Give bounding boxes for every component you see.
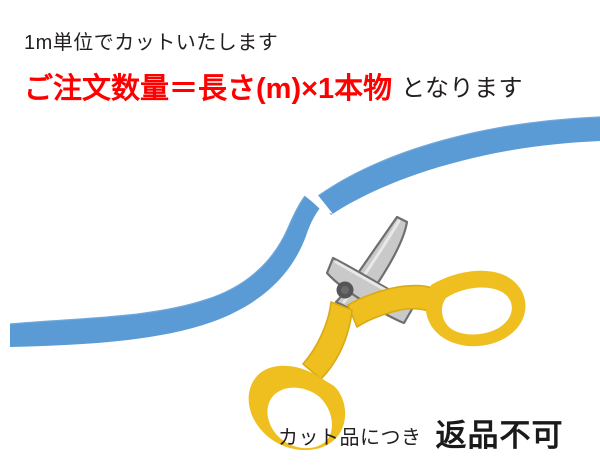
- return-policy-prefix: カット品につき: [278, 427, 422, 449]
- hose-right-fill: [318, 117, 600, 215]
- scissors-lower-shank: [303, 302, 352, 379]
- hose-left-highlight: [10, 196, 305, 324]
- scissors-right-handle-loop: [426, 271, 526, 346]
- lower-shank: [303, 302, 352, 379]
- illustration-layer: [0, 0, 600, 466]
- blue-hose-right-segment: [318, 117, 600, 215]
- order-formula-line: ご注文数量＝長さ(m)×1本物となります: [24, 71, 523, 112]
- return-policy-emphasis: 返品不可: [422, 418, 564, 453]
- blue-hose-left-segment: [10, 196, 320, 347]
- hose-left-fill: [10, 196, 320, 347]
- scissors-pivot-inner: [341, 286, 349, 294]
- order-formula-tail-text: となります: [392, 75, 523, 102]
- order-formula-red-text: ご注文数量＝長さ(m)×1本物: [24, 73, 392, 105]
- cut-unit-text: 1m単位でカットいたします: [24, 30, 278, 56]
- cut-service-notice-graphic: 1m単位でカットいたします ご注文数量＝長さ(m)×1本物となります カット品に…: [0, 0, 600, 466]
- return-policy-line: カット品につき返品不可: [278, 414, 564, 460]
